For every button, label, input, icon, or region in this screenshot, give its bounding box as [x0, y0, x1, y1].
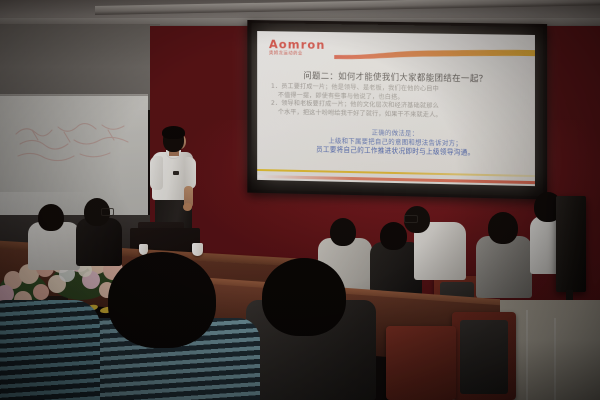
slide-bullet-list: 1．员工要打成一片；他是领导、是老板，我们在他的心目中 不值得一提，即使有些事与… [271, 83, 525, 122]
attendee-torso-striped [0, 300, 100, 400]
slide-bullet-item: 2．领导和老板要打成一片；他的文化层次和经济基础就那么 个水平，把这十吩咐给我干… [271, 100, 525, 122]
presenter-badge [173, 171, 179, 175]
speaker-tower [556, 196, 586, 292]
attendee-head [262, 258, 346, 336]
glasses-icon [101, 208, 114, 216]
projected-slide: Aomron 奥姆龙运动药业 问题二：如何才能使我们大家都能团结在一起？ 1．员… [257, 31, 535, 186]
chair [386, 326, 456, 400]
photo-scene: Aomron 奥姆龙运动药业 问题二：如何才能使我们大家都能团结在一起？ 1．员… [0, 0, 600, 400]
chair-cushion [460, 320, 508, 394]
header-wave-graphic [334, 46, 535, 63]
logo-subtitle-text: 奥姆龙运动药业 [269, 51, 326, 57]
bullet-line1: 员工要打成一片；他是领导、是老板，我们在他的心目中 [281, 83, 439, 93]
bullet-line2: 个水平，把这十吩咐给我干好了就行，如果干不来就走人。 [271, 108, 525, 121]
presenter-hand [183, 203, 192, 211]
presenter-right-arm [184, 157, 196, 189]
attendee-head [488, 212, 518, 244]
logo-brand-text: Aomron [269, 39, 326, 51]
bullet-number: 1． [271, 83, 281, 90]
whiteboard-marker-residue [12, 118, 137, 164]
floor-tile-line [526, 310, 528, 400]
floor-tile-line [554, 318, 556, 400]
attendee-head [38, 204, 64, 231]
slide-logo: Aomron 奥姆龙运动药业 [269, 39, 326, 57]
glasses-icon [404, 215, 418, 223]
bullet-number: 2． [271, 100, 281, 107]
slide-conclusion-block: 正确的做法是： 上级和下属要把自己的意图和想法告诉对方； 员工要将自己的工作推进… [257, 126, 535, 160]
presenter-hair [162, 126, 185, 139]
paper-cup [192, 243, 203, 256]
attendee-head [108, 252, 216, 348]
attendee-torso [476, 236, 532, 298]
presenter-left-arm [150, 156, 163, 190]
attendee-head [330, 218, 356, 246]
attendee-head [380, 222, 407, 250]
